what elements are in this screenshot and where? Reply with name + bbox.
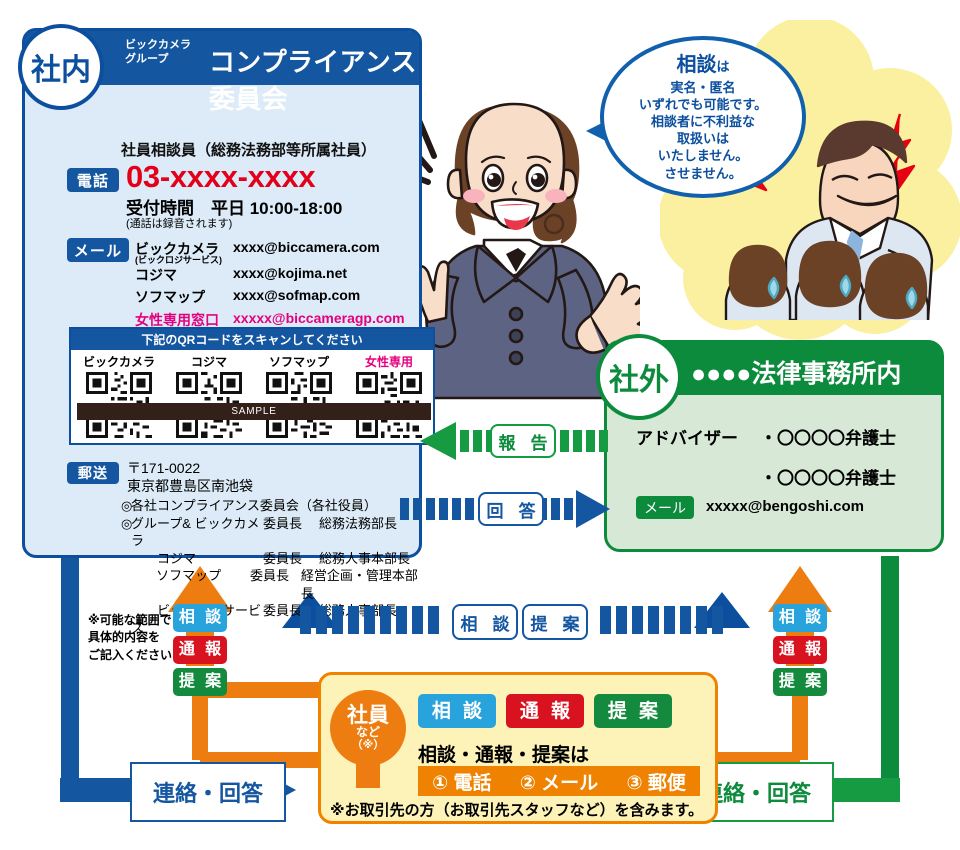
flow-label-contact-left: 連絡・回答 bbox=[130, 762, 286, 822]
committee-row-3: ソフマップ 委員長 経営企画・管理本部長 bbox=[121, 567, 419, 602]
bubble-line-6: させません。 bbox=[664, 165, 742, 182]
bubble-line-5: いたしません。 bbox=[658, 147, 749, 164]
external-mail-label: メール bbox=[636, 496, 694, 519]
bubble-line-0: 相談は bbox=[676, 52, 729, 78]
internal-header-subtitle: ビックカメラ グループ bbox=[125, 39, 215, 67]
badge-internal: 社内 bbox=[18, 24, 104, 110]
employee-tag-row: 相 談 通 報 提 案 bbox=[418, 694, 672, 728]
qr-column-0: ビックカメラ bbox=[77, 353, 161, 443]
employee-tag-consult[interactable]: 相 談 bbox=[418, 694, 496, 728]
left-tag-report[interactable]: 通 報 bbox=[173, 636, 227, 664]
mail-company-1: コジマ bbox=[135, 265, 177, 285]
internal-header-title: コンプライアンス委員会 bbox=[209, 42, 419, 116]
mail-address-0[interactable]: xxxx@biccamera.com bbox=[233, 239, 380, 255]
mail-address-1[interactable]: xxxx@kojima.net bbox=[233, 265, 347, 281]
qr-caption-3: 女性専用 bbox=[347, 353, 431, 370]
committee-name-3: ソフマップ bbox=[130, 567, 250, 602]
employee-tag-report[interactable]: 通 報 bbox=[506, 694, 584, 728]
committee-title-3: 委員長 bbox=[250, 567, 301, 602]
employee-instruction: 相談・通報・提案は bbox=[418, 740, 589, 767]
left-note-line-1: 具体的内容を bbox=[88, 629, 172, 646]
committee-role-2: 総務人事本部長 bbox=[319, 550, 410, 568]
left-note-line-2: ご記入ください bbox=[88, 647, 172, 664]
flow-label-report: 報 告 bbox=[490, 424, 556, 458]
left-note-line-0: ※可能な範囲で bbox=[88, 612, 172, 629]
postal-address: 東京都豊島区南池袋 bbox=[127, 476, 253, 496]
employee-methods-bar: ① 電話 ② メール ③ 郵便 bbox=[418, 766, 700, 796]
committee-bullet-3 bbox=[121, 567, 130, 602]
committee-name-1: グループ& ビックカメラ bbox=[131, 515, 263, 550]
telephone-note: (通話は録音されます) bbox=[126, 215, 232, 231]
qr-code-card: 下記のQRコードをスキャンしてください ビックカメラ bbox=[69, 327, 435, 445]
right-tag-report[interactable]: 通 報 bbox=[773, 636, 827, 664]
bubble-line-3: 相談者に不利益な bbox=[651, 113, 755, 130]
mail-address-3[interactable]: xxxxx@biccameragp.com bbox=[233, 310, 405, 326]
diagram-canvas: 相談は 実名・匿名 いずれでも可能です。 相談者に不利益な 取扱いは いたしませ… bbox=[0, 0, 960, 850]
employee-circle-line3: （※） bbox=[352, 739, 385, 751]
external-mail-address[interactable]: xxxxx@bengoshi.com bbox=[706, 498, 864, 515]
committee-name-2: コジマ bbox=[131, 550, 263, 568]
committee-row-2: コジマ 委員長 総務人事本部長 bbox=[121, 550, 419, 568]
committee-role-3: 経営企画・管理本部長 bbox=[301, 567, 419, 602]
committee-bullet-1: ◎ bbox=[121, 515, 131, 550]
right-tag-propose[interactable]: 提 案 bbox=[773, 668, 827, 696]
advisor-name-2: ・〇〇〇〇弁護士 bbox=[760, 464, 896, 489]
employee-tag-propose[interactable]: 提 案 bbox=[594, 694, 672, 728]
left-tag-stack: 相 談 通 報 提 案 bbox=[173, 604, 227, 696]
left-tag-propose[interactable]: 提 案 bbox=[173, 668, 227, 696]
mail-company-0: ビックカメラ bbox=[135, 239, 219, 259]
qr-column-2: ソフマップ bbox=[257, 353, 341, 443]
flow-label-answer: 回 答 bbox=[478, 492, 544, 526]
sample-watermark-bar: SAMPLE bbox=[77, 403, 431, 420]
flow-label-consult-middle: 相 談 bbox=[452, 604, 518, 640]
bubble-line1-suffix: は bbox=[716, 59, 729, 74]
telephone-number: 03-xxxx-xxxx bbox=[126, 159, 315, 195]
mail-label: メール bbox=[67, 238, 129, 262]
mail-address-2[interactable]: xxxx@sofmap.com bbox=[233, 287, 360, 303]
middle-dashed-band bbox=[300, 600, 736, 640]
employee-circle: 社員 など （※） bbox=[330, 690, 406, 766]
qr-column-1: コジマ bbox=[167, 353, 251, 443]
external-header-title: ●●●●法律事務所内 bbox=[691, 354, 901, 390]
mail-company-2: ソフマップ bbox=[135, 287, 205, 307]
committee-name-0: 各社コンプライアンス委員会（各社役員） bbox=[131, 497, 377, 515]
committee-title-2: 委員長 bbox=[263, 550, 319, 568]
postal-zip: 〒171-0022 bbox=[127, 458, 200, 478]
badge-external: 社外 bbox=[596, 334, 682, 420]
postal-label: 郵送 bbox=[67, 462, 119, 484]
internal-header-sub-line1: ビックカメラ bbox=[125, 39, 215, 53]
committee-role-1: 総務法務部長 bbox=[319, 515, 397, 550]
internal-panel: ビックカメラ グループ コンプライアンス委員会 社員相談員（総務法務部等所属社員… bbox=[22, 28, 422, 558]
employee-method-1: ② メール bbox=[520, 768, 598, 795]
employee-footnote: ※お取引先の方（お取引先スタッフなど）を含みます。 bbox=[330, 799, 703, 820]
committee-bullet-0: ◎ bbox=[121, 497, 131, 515]
flow-label-propose-middle: 提 案 bbox=[522, 604, 588, 640]
employee-method-2: ③ 郵便 bbox=[626, 768, 685, 795]
bubble-line-4: 取扱いは bbox=[677, 130, 729, 147]
staff-counselor-line: 社員相談員（総務法務部等所属社員） bbox=[121, 139, 376, 160]
left-tag-consult[interactable]: 相 談 bbox=[173, 604, 227, 632]
employee-method-0: ① 電話 bbox=[432, 768, 491, 795]
telephone-label: 電話 bbox=[67, 168, 119, 192]
committee-bullet-2 bbox=[121, 550, 131, 568]
internal-header-sub-line2: グループ bbox=[125, 53, 215, 67]
bubble-line-2: いずれでも可能です。 bbox=[639, 96, 767, 113]
advisor-name-1: ・〇〇〇〇弁護士 bbox=[760, 424, 896, 449]
qr-caption-2: ソフマップ bbox=[257, 353, 341, 370]
bubble-line-1: 実名・匿名 bbox=[670, 79, 735, 96]
speech-bubble: 相談は 実名・匿名 いずれでも可能です。 相談者に不利益な 取扱いは いたしませ… bbox=[600, 36, 806, 198]
committee-row-1: ◎ グループ& ビックカメラ 委員長 総務法務部長 bbox=[121, 515, 419, 550]
qr-caption-0: ビックカメラ bbox=[77, 353, 161, 370]
committee-row-0: ◎ 各社コンプライアンス委員会（各社役員） bbox=[121, 497, 419, 515]
advisor-label: アドバイザー bbox=[636, 424, 738, 449]
committee-title-1: 委員長 bbox=[263, 515, 319, 550]
left-note: ※可能な範囲で 具体的内容を ご記入ください bbox=[88, 612, 172, 664]
right-tag-stack: 相 談 通 報 提 案 bbox=[773, 604, 827, 696]
qr-caption-1: コジマ bbox=[167, 353, 251, 370]
qr-card-title: 下記のQRコードをスキャンしてください bbox=[71, 329, 433, 350]
right-tag-consult[interactable]: 相 談 bbox=[773, 604, 827, 632]
bubble-emphasis: 相談 bbox=[676, 54, 716, 76]
employee-circle-line2: など bbox=[356, 726, 380, 739]
employee-circle-line1: 社員 bbox=[347, 705, 389, 726]
